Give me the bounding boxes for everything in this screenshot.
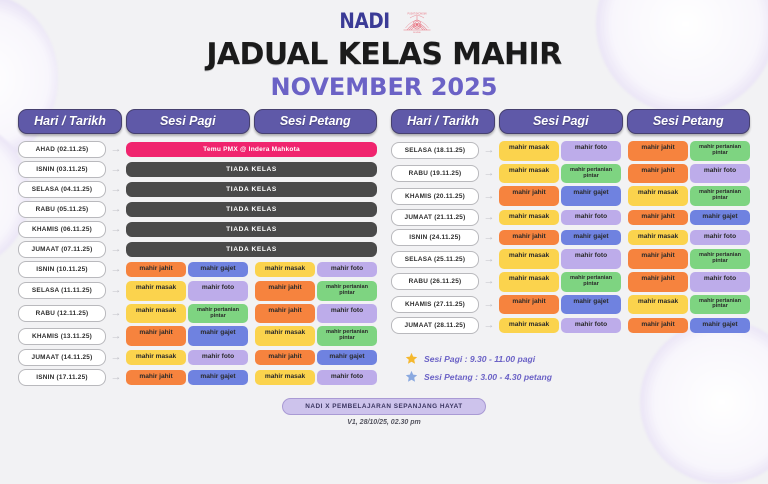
brand-row: NADI PUSAT EKONOMI DIGITAL: [0, 6, 768, 36]
session-time-legend: Sesi Pagi : 9.30 - 11.00 pagiSesi Petang…: [405, 352, 552, 388]
page-header: NADI PUSAT EKONOMI DIGITAL JADUAL KELAS …: [0, 0, 768, 101]
class-chip-jahit: mahir jahit: [126, 370, 186, 385]
class-chip-foto: mahir foto: [317, 304, 377, 324]
afternoon-session-cell: mahir jahitmahir pertanian pintar: [255, 281, 377, 301]
afternoon-session-cell: mahir jahitmahir gajet: [255, 350, 377, 365]
no-class-banner: TIADA KELAS: [126, 222, 377, 237]
table-row: KHAMIS (06.11.25)→TIADA KELAS: [18, 221, 377, 238]
class-chip-jahit: mahir jahit: [126, 326, 186, 346]
day-date-pill: JUMAAT (21.11.25): [391, 209, 479, 226]
table-row: ISNIN (17.11.25)→mahir jahitmahir gajetm…: [18, 369, 377, 386]
table-body-right: SELASA (18.11.25)→mahir masakmahir fotom…: [391, 141, 750, 334]
no-class-banner: TIADA KELAS: [126, 202, 377, 217]
session-cells: mahir jahitmahir gajetmahir masakmahir p…: [126, 326, 377, 346]
class-chip-masak: mahir masak: [628, 230, 688, 245]
class-chip-masak: mahir masak: [499, 272, 559, 292]
day-date-pill: KHAMIS (27.11.25): [391, 296, 479, 313]
table-row: SELASA (11.11.25)→mahir masakmahir fotom…: [18, 281, 377, 301]
session-cells: mahir masakmahir pertanian pintarmahir j…: [499, 272, 750, 292]
class-chip-masak: mahir masak: [126, 350, 186, 365]
morning-session-cell: mahir masakmahir foto: [499, 141, 621, 161]
class-chip-jahit: mahir jahit: [499, 295, 559, 315]
class-chip-foto: mahir foto: [317, 370, 377, 385]
star-icon: [405, 352, 418, 365]
class-chip-pertanian: mahir pertanian pintar: [690, 141, 750, 161]
class-chip-gajet: mahir gajet: [561, 295, 621, 315]
afternoon-session-cell: mahir masakmahir pertanian pintar: [255, 326, 377, 346]
page-subtitle: NOVEMBER 2025: [0, 73, 768, 101]
day-date-pill: SELASA (11.11.25): [18, 282, 106, 299]
table-row: RABU (12.11.25)→mahir masakmahir pertani…: [18, 304, 377, 324]
table-body-left: AHAD (02.11.25)→Temu PMX @ Indera Mahkot…: [18, 141, 377, 386]
day-date-pill: KHAMIS (06.11.25): [18, 221, 106, 238]
arrow-icon: →: [110, 352, 122, 363]
day-date-pill: JUMAAT (14.11.25): [18, 349, 106, 366]
class-chip-masak: mahir masak: [255, 326, 315, 346]
day-date-pill: ISNIN (24.11.25): [391, 229, 479, 246]
day-date-pill: AHAD (02.11.25): [18, 141, 106, 158]
day-date-pill: SELASA (18.11.25): [391, 142, 479, 159]
class-chip-foto: mahir foto: [317, 262, 377, 277]
class-chip-pertanian: mahir pertanian pintar: [561, 272, 621, 292]
class-chip-pertanian: mahir pertanian pintar: [561, 164, 621, 184]
arrow-icon: →: [110, 204, 122, 215]
class-chip-foto: mahir foto: [188, 281, 248, 301]
day-date-pill: ISNIN (17.11.25): [18, 369, 106, 386]
class-chip-masak: mahir masak: [628, 295, 688, 315]
class-chip-gajet: mahir gajet: [690, 210, 750, 225]
session-cells: mahir masakmahir fotomahir jahitmahir pe…: [499, 249, 750, 269]
class-chip-foto: mahir foto: [561, 249, 621, 269]
session-cells: mahir masakmahir pertanian pintarmahir j…: [126, 304, 377, 324]
column-header-afternoon: Sesi Petang: [254, 109, 378, 134]
class-chip-jahit: mahir jahit: [126, 262, 186, 277]
class-chip-foto: mahir foto: [690, 230, 750, 245]
class-chip-pertanian: mahir pertanian pintar: [317, 326, 377, 346]
arrow-icon: →: [483, 276, 495, 287]
day-date-pill: SELASA (25.11.25): [391, 251, 479, 268]
class-chip-jahit: mahir jahit: [499, 230, 559, 245]
class-chip-foto: mahir foto: [690, 164, 750, 184]
afternoon-session-cell: mahir jahitmahir pertanian pintar: [628, 141, 750, 161]
class-chip-masak: mahir masak: [126, 281, 186, 301]
day-date-pill: RABU (19.11.25): [391, 165, 479, 182]
class-chip-gajet: mahir gajet: [561, 186, 621, 206]
table-row: KHAMIS (20.11.25)→mahir jahitmahir gajet…: [391, 186, 750, 206]
table-row: JUMAAT (07.11.25)→TIADA KELAS: [18, 241, 377, 258]
page-footer: NADI X PEMBELAJARAN SEPANJANG HAYAT V1, …: [0, 395, 768, 426]
class-chip-masak: mahir masak: [255, 262, 315, 277]
day-date-pill: RABU (05.11.25): [18, 201, 106, 218]
class-chip-gajet: mahir gajet: [188, 370, 248, 385]
morning-session-cell: mahir masakmahir pertanian pintar: [126, 304, 248, 324]
day-date-pill: JUMAAT (28.11.25): [391, 317, 479, 334]
class-chip-masak: mahir masak: [499, 318, 559, 333]
class-chip-pertanian: mahir pertanian pintar: [690, 295, 750, 315]
afternoon-session-cell: mahir jahitmahir pertanian pintar: [628, 249, 750, 269]
class-chip-pertanian: mahir pertanian pintar: [188, 304, 248, 324]
star-icon: [405, 370, 418, 383]
arrow-icon: →: [110, 144, 122, 155]
class-chip-masak: mahir masak: [499, 164, 559, 184]
arrow-icon: →: [483, 232, 495, 243]
arrow-icon: →: [110, 184, 122, 195]
class-chip-foto: mahir foto: [561, 210, 621, 225]
class-chip-pertanian: mahir pertanian pintar: [317, 281, 377, 301]
morning-session-cell: mahir masakmahir foto: [499, 318, 621, 333]
column-header-morning: Sesi Pagi: [126, 109, 250, 134]
table-row: JUMAAT (21.11.25)→mahir masakmahir fotom…: [391, 209, 750, 226]
morning-session-cell: mahir masakmahir foto: [126, 281, 248, 301]
table-row: RABU (05.11.25)→TIADA KELAS: [18, 201, 377, 218]
session-cells: mahir masakmahir fotomahir jahitmahir ga…: [126, 350, 377, 365]
morning-session-cell: mahir masakmahir foto: [499, 210, 621, 225]
class-chip-foto: mahir foto: [561, 141, 621, 161]
session-cells: mahir masakmahir fotomahir jahitmahir ga…: [499, 318, 750, 333]
class-chip-gajet: mahir gajet: [690, 318, 750, 333]
no-class-banner: TIADA KELAS: [126, 242, 377, 257]
morning-session-cell: mahir jahitmahir gajet: [499, 186, 621, 206]
footer-version-text: V1, 28/10/25, 02.30 pm: [0, 419, 768, 426]
svg-text:DIGITAL: DIGITAL: [413, 31, 422, 34]
arrow-icon: →: [483, 254, 495, 265]
column-header-day: Hari / Tarikh: [18, 109, 122, 134]
class-chip-pertanian: mahir pertanian pintar: [690, 249, 750, 269]
session-cells: mahir masakmahir fotomahir jahitmahir ga…: [499, 210, 750, 225]
afternoon-session-cell: mahir jahitmahir gajet: [628, 318, 750, 333]
class-chip-jahit: mahir jahit: [628, 318, 688, 333]
table-row: ISNIN (03.11.25)→TIADA KELAS: [18, 161, 377, 178]
day-date-pill: KHAMIS (13.11.25): [18, 328, 106, 345]
table-row: RABU (19.11.25)→mahir masakmahir pertani…: [391, 164, 750, 184]
table-header-right: Hari / Tarikh Sesi Pagi Sesi Petang: [391, 109, 750, 134]
afternoon-session-cell: mahir masakmahir pertanian pintar: [628, 295, 750, 315]
table-row: JUMAAT (28.11.25)→mahir masakmahir fotom…: [391, 317, 750, 334]
arrow-icon: →: [483, 320, 495, 331]
legend-label: Sesi Petang : 3.00 - 4.30 petang: [424, 372, 552, 382]
schedule-table-right: Hari / Tarikh Sesi Pagi Sesi Petang SELA…: [391, 109, 750, 389]
event-banner: Temu PMX @ Indera Mahkota: [126, 142, 377, 157]
morning-session-cell: mahir masakmahir pertanian pintar: [499, 272, 621, 292]
class-chip-gajet: mahir gajet: [561, 230, 621, 245]
afternoon-session-cell: mahir masakmahir foto: [255, 370, 377, 385]
legend-item: Sesi Pagi : 9.30 - 11.00 pagi: [405, 352, 552, 365]
session-cells: mahir masakmahir fotomahir jahitmahir pe…: [126, 281, 377, 301]
morning-session-cell: mahir jahitmahir gajet: [499, 295, 621, 315]
arrow-icon: →: [483, 145, 495, 156]
day-date-pill: JUMAAT (07.11.25): [18, 241, 106, 258]
session-cells: mahir jahitmahir gajetmahir masakmahir p…: [499, 186, 750, 206]
class-chip-masak: mahir masak: [255, 370, 315, 385]
morning-session-cell: mahir jahitmahir gajet: [499, 230, 621, 245]
class-chip-foto: mahir foto: [561, 318, 621, 333]
table-row: ISNIN (24.11.25)→mahir jahitmahir gajetm…: [391, 229, 750, 246]
session-cells: mahir jahitmahir gajetmahir masakmahir f…: [126, 370, 377, 385]
table-row: AHAD (02.11.25)→Temu PMX @ Indera Mahkot…: [18, 141, 377, 158]
arrow-icon: →: [110, 308, 122, 319]
arrow-icon: →: [110, 372, 122, 383]
arrow-icon: →: [110, 244, 122, 255]
table-row: RABU (26.11.25)→mahir masakmahir pertani…: [391, 272, 750, 292]
schedule-table-left: Hari / Tarikh Sesi Pagi Sesi Petang AHAD…: [18, 109, 377, 389]
arrow-icon: →: [483, 212, 495, 223]
morning-session-cell: mahir jahitmahir gajet: [126, 326, 248, 346]
class-chip-masak: mahir masak: [499, 210, 559, 225]
day-date-pill: SELASA (04.11.25): [18, 181, 106, 198]
table-header-left: Hari / Tarikh Sesi Pagi Sesi Petang: [18, 109, 377, 134]
legend-label: Sesi Pagi : 9.30 - 11.00 pagi: [424, 354, 535, 364]
column-header-day: Hari / Tarikh: [391, 109, 495, 134]
afternoon-session-cell: mahir masakmahir foto: [255, 262, 377, 277]
arrow-icon: →: [483, 299, 495, 310]
table-row: KHAMIS (13.11.25)→mahir jahitmahir gajet…: [18, 326, 377, 346]
class-chip-jahit: mahir jahit: [628, 210, 688, 225]
class-chip-masak: mahir masak: [126, 304, 186, 324]
table-row: SELASA (25.11.25)→mahir masakmahir fotom…: [391, 249, 750, 269]
table-row: JUMAAT (14.11.25)→mahir masakmahir fotom…: [18, 349, 377, 366]
schedule-boards: Hari / Tarikh Sesi Pagi Sesi Petang AHAD…: [0, 101, 768, 389]
arrow-icon: →: [483, 168, 495, 179]
class-chip-pertanian: mahir pertanian pintar: [690, 186, 750, 206]
class-chip-jahit: mahir jahit: [255, 304, 315, 324]
legend-item: Sesi Petang : 3.00 - 4.30 petang: [405, 370, 552, 383]
session-cells: mahir jahitmahir gajetmahir masakmahir f…: [499, 230, 750, 245]
day-date-pill: ISNIN (03.11.25): [18, 161, 106, 178]
arrow-icon: →: [483, 191, 495, 202]
session-cells: mahir masakmahir fotomahir jahitmahir pe…: [499, 141, 750, 161]
class-chip-masak: mahir masak: [628, 186, 688, 206]
class-chip-jahit: mahir jahit: [255, 281, 315, 301]
column-header-morning: Sesi Pagi: [499, 109, 623, 134]
arrow-icon: →: [110, 285, 122, 296]
session-cells: mahir masakmahir pertanian pintarmahir j…: [499, 164, 750, 184]
morning-session-cell: mahir masakmahir pertanian pintar: [499, 164, 621, 184]
svg-text:PUSAT EKONOMI: PUSAT EKONOMI: [407, 13, 426, 16]
morning-session-cell: mahir jahitmahir gajet: [126, 370, 248, 385]
class-chip-jahit: mahir jahit: [628, 141, 688, 161]
afternoon-session-cell: mahir masakmahir foto: [628, 230, 750, 245]
malaysia-crest-icon: PUSAT EKONOMI DIGITAL: [402, 8, 432, 34]
footer-tagline-pill: NADI X PEMBELAJARAN SEPANJANG HAYAT: [282, 398, 485, 415]
class-chip-jahit: mahir jahit: [499, 186, 559, 206]
column-header-afternoon: Sesi Petang: [627, 109, 751, 134]
no-class-banner: TIADA KELAS: [126, 182, 377, 197]
arrow-icon: →: [110, 264, 122, 275]
class-chip-jahit: mahir jahit: [255, 350, 315, 365]
afternoon-session-cell: mahir jahitmahir foto: [628, 164, 750, 184]
table-row: KHAMIS (27.11.25)→mahir jahitmahir gajet…: [391, 295, 750, 315]
day-date-pill: ISNIN (10.11.25): [18, 261, 106, 278]
arrow-icon: →: [110, 164, 122, 175]
day-date-pill: KHAMIS (20.11.25): [391, 188, 479, 205]
class-chip-jahit: mahir jahit: [628, 249, 688, 269]
class-chip-jahit: mahir jahit: [628, 164, 688, 184]
arrow-icon: →: [110, 224, 122, 235]
class-chip-gajet: mahir gajet: [188, 326, 248, 346]
class-chip-foto: mahir foto: [690, 272, 750, 292]
arrow-icon: →: [110, 331, 122, 342]
table-row: SELASA (04.11.25)→TIADA KELAS: [18, 181, 377, 198]
class-chip-masak: mahir masak: [499, 249, 559, 269]
day-date-pill: RABU (26.11.25): [391, 273, 479, 290]
class-chip-jahit: mahir jahit: [628, 272, 688, 292]
class-chip-gajet: mahir gajet: [317, 350, 377, 365]
morning-session-cell: mahir masakmahir foto: [499, 249, 621, 269]
morning-session-cell: mahir masakmahir foto: [126, 350, 248, 365]
morning-session-cell: mahir jahitmahir gajet: [126, 262, 248, 277]
class-chip-masak: mahir masak: [499, 141, 559, 161]
page-title: JADUAL KELAS MAHIR: [0, 37, 768, 72]
table-row: SELASA (18.11.25)→mahir masakmahir fotom…: [391, 141, 750, 161]
afternoon-session-cell: mahir jahitmahir foto: [628, 272, 750, 292]
afternoon-session-cell: mahir jahitmahir foto: [255, 304, 377, 324]
no-class-banner: TIADA KELAS: [126, 162, 377, 177]
session-cells: mahir jahitmahir gajetmahir masakmahir p…: [499, 295, 750, 315]
table-row: ISNIN (10.11.25)→mahir jahitmahir gajetm…: [18, 261, 377, 278]
nadi-wordmark: NADI: [340, 9, 390, 33]
afternoon-session-cell: mahir jahitmahir gajet: [628, 210, 750, 225]
day-date-pill: RABU (12.11.25): [18, 305, 106, 322]
class-chip-gajet: mahir gajet: [188, 262, 248, 277]
session-cells: mahir jahitmahir gajetmahir masakmahir f…: [126, 262, 377, 277]
afternoon-session-cell: mahir masakmahir pertanian pintar: [628, 186, 750, 206]
class-chip-foto: mahir foto: [188, 350, 248, 365]
